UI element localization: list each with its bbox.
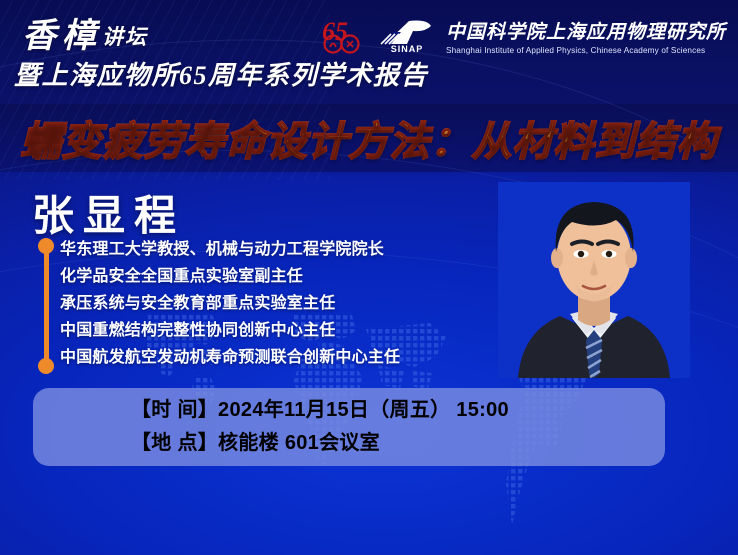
title-band: 蠕变疲劳寿命设计方法：从材料到结构 bbox=[0, 106, 738, 170]
event-info-box: 【时 间】2024年11月15日（周五） 15:00 【地 点】核能楼 601会… bbox=[33, 388, 665, 466]
timeline-dot-bottom bbox=[38, 358, 54, 374]
event-location: 【地 点】核能楼 601会议室 bbox=[131, 427, 665, 460]
speaker-credentials-list: 华东理工大学教授、机械与动力工程学院院长 化学品安全全国重点实验室副主任 承压系… bbox=[60, 236, 480, 371]
lecture-title: 蠕变疲劳寿命设计方法：从材料到结构 bbox=[21, 109, 718, 167]
sinap-mark-icon bbox=[379, 18, 435, 46]
timeline-decoration bbox=[38, 238, 54, 374]
list-item: 化学品安全全国重点实验室副主任 bbox=[60, 263, 480, 290]
institute-name-cn: 中国科学院上海应用物理研究所 bbox=[446, 17, 726, 44]
timeline-line bbox=[44, 244, 49, 368]
list-item: 中国航发航空发动机寿命预测联合创新中心主任 bbox=[60, 344, 480, 371]
brand-title: 香樟讲坛 bbox=[22, 8, 148, 57]
brand-title-suffix: 讲坛 bbox=[102, 25, 148, 49]
sinap-wordmark: SINAP bbox=[391, 44, 424, 54]
event-time: 【时 间】2024年11月15日（周五） 15:00 bbox=[131, 394, 665, 427]
institute-name-en: Shanghai Institute of Applied Physics, C… bbox=[446, 46, 726, 55]
list-item: 中国重燃结构完整性协同创新中心主任 bbox=[60, 317, 480, 344]
logo-row: 65 SINAP 中国科学院上海应 bbox=[320, 16, 726, 56]
brand-title-main: 香樟 bbox=[22, 18, 102, 55]
sinap-logo: SINAP bbox=[376, 18, 438, 54]
seminar-poster: 香樟讲坛 暨上海应物所65周年系列学术报告 65 bbox=[0, 0, 738, 555]
speaker-portrait bbox=[498, 182, 690, 378]
speaker-name: 张显程 bbox=[32, 182, 185, 243]
anniversary-65-logo: 65 bbox=[320, 16, 368, 56]
list-item: 华东理工大学教授、机械与动力工程学院院长 bbox=[60, 236, 480, 263]
brand-subtitle: 暨上海应物所65周年系列学术报告 bbox=[14, 55, 428, 92]
list-item: 承压系统与安全教育部重点实验室主任 bbox=[60, 290, 480, 317]
poster-header: 香樟讲坛 暨上海应物所65周年系列学术报告 65 bbox=[0, 0, 738, 104]
institute-name-block: 中国科学院上海应用物理研究所 Shanghai Institute of App… bbox=[446, 17, 726, 55]
